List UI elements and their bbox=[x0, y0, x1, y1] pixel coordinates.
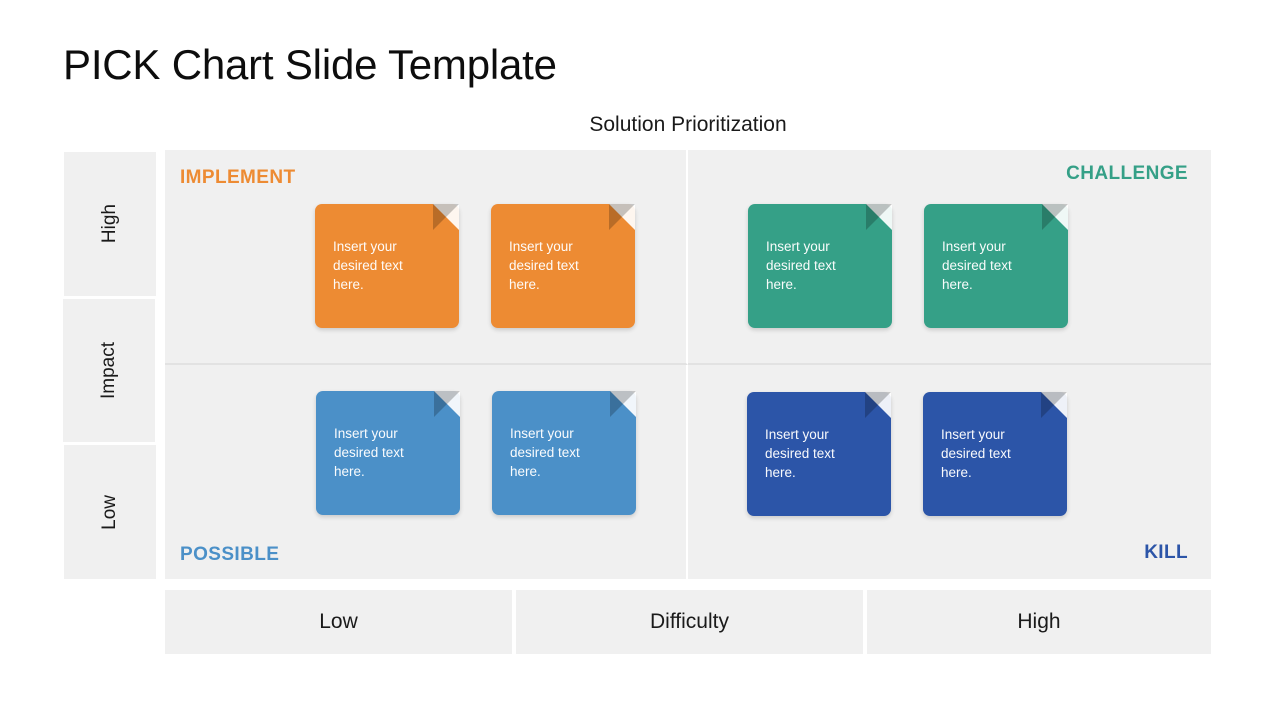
y-axis-label-low: Low bbox=[64, 445, 156, 579]
x-axis-label-low: Low bbox=[165, 590, 512, 654]
x-axis: Low Difficulty High bbox=[165, 590, 1211, 654]
x-axis-title: Difficulty bbox=[516, 590, 863, 654]
folded-corner-icon bbox=[865, 392, 891, 418]
sticky-note-text: Insert your desired text here. bbox=[766, 237, 870, 294]
folded-corner-icon bbox=[610, 391, 636, 417]
chart-subtitle: Solution Prioritization bbox=[165, 113, 1211, 137]
quadrant-label-implement: IMPLEMENT bbox=[180, 167, 296, 189]
quadrant-kill[interactable]: KILL Insert your desired text here. Inse… bbox=[688, 365, 1211, 580]
folded-corner-icon bbox=[1041, 392, 1067, 418]
folded-corner-icon bbox=[1042, 204, 1068, 230]
sticky-note-card[interactable]: Insert your desired text here. bbox=[923, 392, 1067, 516]
quadrant-label-challenge: CHALLENGE bbox=[1066, 163, 1188, 185]
sticky-note-text: Insert your desired text here. bbox=[334, 424, 438, 481]
y-axis-label-high-text: High bbox=[99, 204, 121, 243]
sticky-note-text: Insert your desired text here. bbox=[941, 425, 1045, 482]
quadrant-challenge[interactable]: CHALLENGE Insert your desired text here.… bbox=[688, 150, 1211, 365]
folded-corner-icon bbox=[433, 204, 459, 230]
sticky-note-card[interactable]: Insert your desired text here. bbox=[315, 204, 459, 328]
y-axis: High Impact Low bbox=[64, 152, 156, 579]
sticky-note-text: Insert your desired text here. bbox=[942, 237, 1046, 294]
y-axis-label-high: High bbox=[64, 152, 156, 296]
quadrant-label-possible: POSSIBLE bbox=[180, 544, 279, 566]
x-axis-label-high: High bbox=[867, 590, 1211, 654]
sticky-note-text: Insert your desired text here. bbox=[509, 237, 613, 294]
quadrant-possible[interactable]: POSSIBLE Insert your desired text here. … bbox=[165, 365, 688, 580]
sticky-note-card[interactable]: Insert your desired text here. bbox=[316, 391, 460, 515]
folded-corner-icon bbox=[434, 391, 460, 417]
sticky-note-text: Insert your desired text here. bbox=[333, 237, 437, 294]
y-axis-label-low-text: Low bbox=[99, 495, 121, 530]
sticky-note-card[interactable]: Insert your desired text here. bbox=[491, 204, 635, 328]
sticky-note-text: Insert your desired text here. bbox=[765, 425, 869, 482]
sticky-note-card[interactable]: Insert your desired text here. bbox=[748, 204, 892, 328]
quadrant-implement[interactable]: IMPLEMENT Insert your desired text here.… bbox=[165, 150, 688, 365]
sticky-note-card[interactable]: Insert your desired text here. bbox=[747, 392, 891, 516]
folded-corner-icon bbox=[609, 204, 635, 230]
pick-chart-matrix: IMPLEMENT Insert your desired text here.… bbox=[165, 150, 1211, 579]
y-axis-title-text: Impact bbox=[98, 342, 120, 399]
y-axis-title: Impact bbox=[63, 299, 155, 442]
quadrant-label-kill: KILL bbox=[1144, 542, 1188, 564]
sticky-note-text: Insert your desired text here. bbox=[510, 424, 614, 481]
sticky-note-card[interactable]: Insert your desired text here. bbox=[924, 204, 1068, 328]
folded-corner-icon bbox=[866, 204, 892, 230]
sticky-note-card[interactable]: Insert your desired text here. bbox=[492, 391, 636, 515]
page-title: PICK Chart Slide Template bbox=[63, 42, 557, 88]
